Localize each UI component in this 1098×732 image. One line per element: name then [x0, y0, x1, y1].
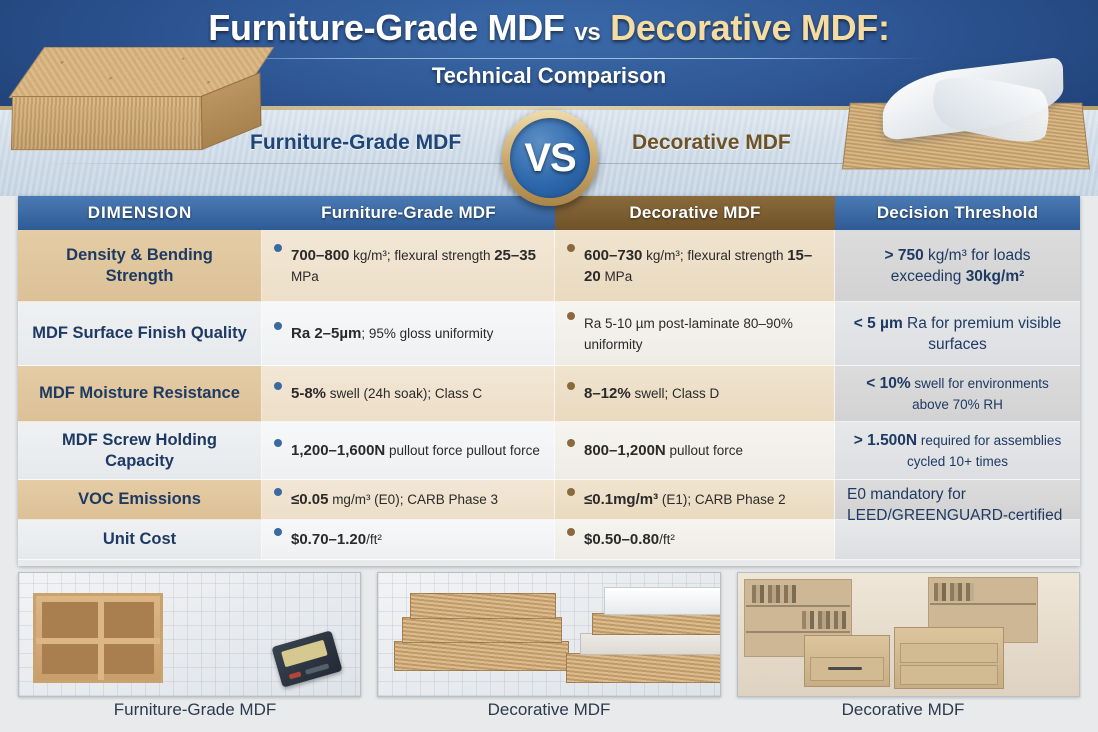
right-product-label: Decorative MDF — [632, 131, 791, 155]
value-detail: kg/m³; flexural strength — [349, 248, 494, 263]
value-primary: Ra 2–5µm — [291, 325, 361, 342]
row-decorative-text: ≤0.1mg/m³ (E1); CARB Phase 2 — [584, 489, 786, 510]
row-decorative-text: 600–730 kg/m³; flexural strength 15–20 M… — [584, 245, 822, 287]
row-furniture-text: 5-8% swell (24h soak); Class C — [291, 383, 482, 404]
bullet-icon — [567, 528, 575, 536]
row-furniture-cell: ≤0.05 mg/m³ (E0); CARB Phase 3 — [262, 480, 555, 520]
row-furniture-text: 1,200–1,600N pullout force pullout force — [291, 440, 540, 461]
value-detail: (E1); CARB Phase 2 — [658, 492, 786, 507]
row-decorative-text: Ra 5-10 µm post-laminate 80–90% uniformi… — [584, 313, 822, 355]
meter-button-grey — [305, 663, 329, 674]
row-decorative-cell: $0.50–0.80/ft² — [555, 520, 835, 560]
title-part-one: Furniture-Grade MDF — [208, 7, 564, 48]
bullet-icon — [567, 312, 575, 320]
row-threshold-text: > 1.500N required for assemblies cycled … — [847, 430, 1068, 472]
value-primary: < 5 µm — [854, 315, 903, 332]
row-furniture-cell: $0.70–1.20/ft² — [262, 520, 555, 560]
column-header-decision-threshold: Decision Threshold — [835, 196, 1080, 230]
bullet-icon — [274, 528, 282, 536]
row-threshold-text: < 10% swell for environments above 70% R… — [847, 373, 1068, 415]
shelf-line — [930, 603, 1036, 605]
value-detail: /ft² — [366, 532, 382, 547]
photo-decorative-mdf-panels — [377, 572, 720, 697]
infographic-page: Furniture-Grade MDF vs Decorative MDF: T… — [0, 0, 1098, 732]
title-vs-word: vs — [574, 19, 600, 46]
row-furniture-text: ≤0.05 mg/m³ (E0); CARB Phase 3 — [291, 489, 498, 510]
table-row: MDF Screw Holding Capacity 1,200–1,600N … — [18, 422, 1080, 480]
value-primary: ≤0.1mg/m³ — [584, 491, 658, 508]
panel-wood — [566, 653, 720, 683]
bullet-icon — [567, 382, 575, 390]
row-decorative-text: 800–1,200N pullout force — [584, 440, 743, 461]
value-detail: kg/m³; flexural strength — [642, 248, 787, 263]
row-threshold-cell: < 5 µm Ra for premium visible surfaces — [835, 302, 1080, 366]
bullet-icon — [274, 439, 282, 447]
photo-caption-2: Decorative MDF — [372, 700, 726, 730]
value-detail: ; 95% gloss uniformity — [361, 326, 493, 341]
photo-gallery — [18, 572, 1080, 697]
panel-stack-right — [566, 579, 720, 687]
cabinet-drawer — [900, 665, 998, 685]
row-decorative-cell: 800–1,200N pullout force — [555, 422, 835, 480]
column-header-furniture-grade: Furniture-Grade MDF — [262, 196, 555, 230]
row-threshold-cell: < 10% swell for environments above 70% R… — [835, 366, 1080, 422]
value-primary: $0.70–1.20 — [291, 531, 366, 548]
row-decorative-text: $0.50–0.80/ft² — [584, 529, 675, 550]
column-header-decorative: Decorative MDF — [555, 196, 835, 230]
row-threshold-text: < 5 µm Ra for premium visible surfaces — [847, 313, 1068, 355]
furniture-grade-mdf-block-image — [11, 47, 263, 158]
row-decorative-cell: 8–12% swell; Class D — [555, 366, 835, 422]
bullet-icon — [567, 439, 575, 447]
vs-badge-label: VS — [524, 136, 575, 181]
panel-wood — [410, 593, 556, 619]
value-primary: ≤0.05 — [291, 491, 328, 508]
bullet-icon — [274, 488, 282, 496]
column-header-decorative-label: Decorative MDF — [629, 203, 760, 223]
value-primary: 600–730 — [584, 247, 642, 264]
panel-wood — [592, 613, 720, 635]
photo-captions: Furniture-Grade MDF Decorative MDF Decor… — [18, 700, 1080, 730]
vs-badge-inner: VS — [510, 118, 590, 198]
room-background — [738, 573, 1079, 696]
row-threshold-cell: E0 mandatory for LEED/GREENGUARD-certifi… — [835, 480, 1080, 520]
shelf-body — [33, 593, 163, 683]
book-row — [934, 583, 974, 601]
shelf-line — [746, 631, 850, 633]
panel-wood — [394, 641, 569, 671]
value-detail: /ft² — [659, 532, 675, 547]
column-header-decision-threshold-label: Decision Threshold — [877, 203, 1038, 223]
bullet-icon — [567, 244, 575, 252]
bullet-icon — [274, 244, 282, 252]
table-row: VOC Emissions ≤0.05 mg/m³ (E0); CARB Pha… — [18, 480, 1080, 520]
row-dimension-label: MDF Moisture Resistance — [18, 366, 262, 422]
photo-furniture-grade-mdf — [18, 572, 361, 697]
row-furniture-cell: 1,200–1,600N pullout force pullout force — [262, 422, 555, 480]
value-secondary: 25–35 — [494, 247, 536, 264]
row-decorative-text: 8–12% swell; Class D — [584, 383, 719, 404]
mdf-block-front-face — [11, 96, 203, 150]
row-threshold-cell — [835, 520, 1080, 560]
table-row: Unit Cost $0.70–1.20/ft² $0.50–0.80/ft² — [18, 520, 1080, 560]
row-furniture-cell: 5-8% swell (24h soak); Class C — [262, 366, 555, 422]
column-header-furniture-grade-label: Furniture-Grade MDF — [321, 203, 496, 223]
value-detail: mg/m³ (E0); CARB Phase 3 — [328, 492, 498, 507]
bullet-icon — [274, 322, 282, 330]
book-row — [802, 611, 846, 629]
value-primary: 8–12% — [584, 385, 631, 402]
panel-stack-left — [394, 587, 569, 683]
value-detail: Ra 5-10 µm post-laminate 80–90% uniformi… — [584, 316, 793, 352]
row-threshold-cell: > 1.500N required for assemblies cycled … — [835, 422, 1080, 480]
drawer-handle — [828, 667, 862, 670]
photo-caption-3: Decorative MDF — [726, 700, 1080, 730]
value-primary: 700–800 — [291, 247, 349, 264]
value-primary: 800–1,200N — [584, 442, 666, 459]
table-row: MDF Moisture Resistance 5-8% swell (24h … — [18, 366, 1080, 422]
value-primary: 5-8% — [291, 385, 326, 402]
value-detail: swell for environments above 70% RH — [911, 376, 1049, 412]
photo-decorative-mdf-room — [737, 572, 1080, 697]
row-dimension-label: Unit Cost — [18, 520, 262, 560]
row-decorative-cell: 600–730 kg/m³; flexural strength 15–20 M… — [555, 230, 835, 302]
value-primary: > 1.500N — [854, 432, 917, 449]
meter-button-red — [289, 671, 302, 679]
column-header-dimension-label: DIMENSION — [88, 203, 192, 223]
value-tail: MPa — [601, 269, 633, 284]
table-row: Density & Bending Strength 700–800 kg/m³… — [18, 230, 1080, 302]
table-row: MDF Surface Finish Quality Ra 2–5µm; 95%… — [18, 302, 1080, 366]
shelf-line — [746, 605, 850, 607]
left-product-label: Furniture-Grade MDF — [250, 131, 461, 155]
vs-badge: VS — [502, 110, 598, 206]
title-part-two: Decorative MDF: — [610, 7, 890, 48]
value-primary: $0.50–0.80 — [584, 531, 659, 548]
decorative-mdf-laminate-image — [824, 66, 1094, 178]
value-detail: pullout force — [666, 443, 743, 458]
value-primary: 1,200–1,600N — [291, 442, 385, 459]
row-furniture-text: Ra 2–5µm; 95% gloss uniformity — [291, 323, 493, 344]
shelf-vertical-divider — [98, 596, 104, 680]
comparison-table: DIMENSION Furniture-Grade MDF Decorative… — [18, 196, 1080, 566]
meter-display — [281, 640, 328, 668]
row-furniture-cell: Ra 2–5µm; 95% gloss uniformity — [262, 302, 555, 366]
row-dimension-label: MDF Screw Holding Capacity — [18, 422, 262, 480]
title-divider — [169, 58, 929, 59]
row-dimension-label: MDF Surface Finish Quality — [18, 302, 262, 366]
value-detail: swell; Class D — [631, 386, 720, 401]
value-secondary: 30kg/m² — [966, 268, 1025, 285]
row-furniture-text: $0.70–1.20/ft² — [291, 529, 382, 550]
table-body: Density & Bending Strength 700–800 kg/m³… — [18, 230, 1080, 560]
value-detail: Ra for premium visible surfaces — [903, 315, 1062, 353]
row-dimension-label: VOC Emissions — [18, 480, 262, 520]
row-dimension-label: Density & Bending Strength — [18, 230, 262, 302]
photo-caption-1: Furniture-Grade MDF — [18, 700, 372, 730]
value-tail: MPa — [291, 269, 319, 284]
row-threshold-cell: > 750 kg/m³ for loads exceeding 30kg/m² — [835, 230, 1080, 302]
panel-white-laminate — [604, 587, 720, 615]
value-detail: pullout force pullout force — [385, 443, 540, 458]
value-detail: required for assemblies cycled 10+ times — [907, 433, 1061, 469]
value-primary: > 750 — [884, 247, 923, 264]
row-decorative-cell: ≤0.1mg/m³ (E1); CARB Phase 2 — [555, 480, 835, 520]
value-detail: swell (24h soak); Class C — [326, 386, 482, 401]
shelf-unit-image — [33, 593, 163, 683]
row-threshold-text: > 750 kg/m³ for loads exceeding 30kg/m² — [847, 245, 1068, 287]
row-furniture-text: 700–800 kg/m³; flexural strength 25–35 M… — [291, 245, 542, 287]
cabinet-drawer — [900, 643, 998, 663]
book-row — [752, 585, 796, 603]
row-decorative-cell: Ra 5-10 µm post-laminate 80–90% uniformi… — [555, 302, 835, 366]
row-furniture-cell: 700–800 kg/m³; flexural strength 25–35 M… — [262, 230, 555, 302]
bullet-icon — [567, 488, 575, 496]
panel-wood — [402, 617, 562, 643]
value-primary: < 10% — [866, 375, 910, 392]
panel-grey — [580, 633, 720, 655]
bullet-icon — [274, 382, 282, 390]
column-header-dimension: DIMENSION — [18, 196, 262, 230]
